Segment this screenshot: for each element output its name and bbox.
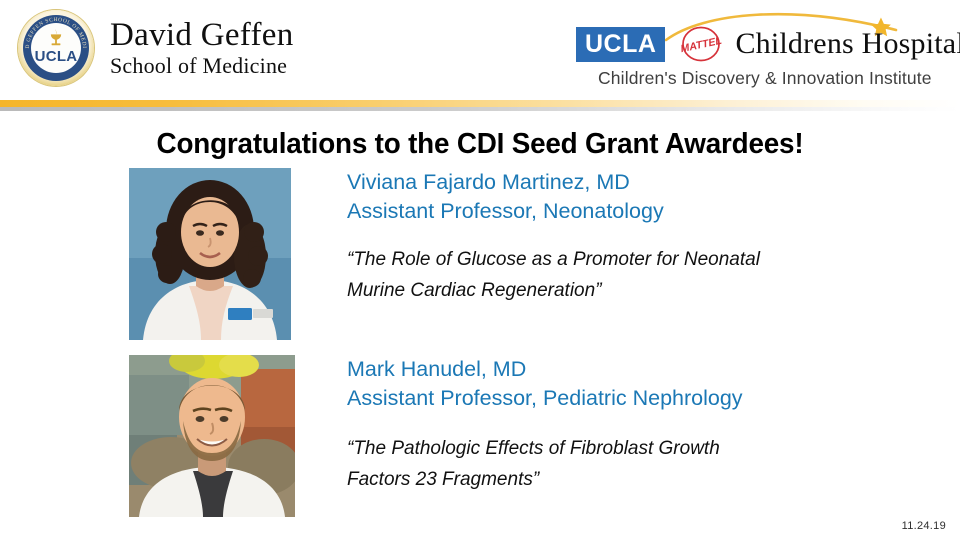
awardee-name: Viviana Fajardo Martinez, MD (347, 168, 947, 197)
avatar (129, 168, 291, 340)
date-stamp: 11.24.19 (902, 520, 946, 532)
headshot-photo-mark (129, 355, 295, 517)
cdi-institute-label: Children's Discovery & Innovation Instit… (598, 68, 932, 89)
ucla-mattel-childrens-hospital-logo: UCLA MATTEL Childrens Hospital Children'… (576, 10, 956, 92)
ucla-box-logo: UCLA (576, 27, 665, 62)
awardee-details: Viviana Fajardo Martinez, MD Assistant P… (347, 168, 947, 306)
seal-ucla-wordmark: UCLA (16, 48, 96, 65)
geffen-school-line: School of Medicine (110, 53, 294, 79)
childrens-hospital-wordmark: Childrens Hospital (735, 28, 960, 60)
avatar (129, 355, 295, 517)
awardee-details: Mark Hanudel, MD Assistant Professor, Pe… (347, 355, 947, 495)
project-title-line: “The Pathologic Effects of Fibroblast Gr… (347, 433, 947, 464)
project-title-line: Factors 23 Fragments” (347, 464, 947, 495)
awardee-role: Assistant Professor, Pediatric Nephrolog… (347, 384, 947, 413)
gold-divider-bar (0, 100, 960, 107)
awardee-role: Assistant Professor, Neonatology (347, 197, 947, 226)
page-title: Congratulations to the CDI Seed Grant Aw… (19, 128, 941, 161)
slide-header: DAVID GEFFEN SCHOOL OF MEDICINE UCLA Dav… (0, 0, 960, 100)
headshot-photo-viviana (129, 168, 291, 340)
geffen-school-of-medicine-logo: DAVID GEFFEN SCHOOL OF MEDICINE UCLA Dav… (16, 8, 294, 88)
geffen-name-line: David Geffen (110, 17, 294, 53)
hospital-name-row: UCLA MATTEL Childrens Hospital (576, 24, 960, 64)
awardee-name: Mark Hanudel, MD (347, 355, 947, 384)
gold-divider-shadow (0, 107, 960, 111)
project-title-line: “The Role of Glucose as a Promoter for N… (347, 244, 947, 275)
awardee-project-title: “The Role of Glucose as a Promoter for N… (347, 244, 947, 306)
ucla-geffen-seal-icon: DAVID GEFFEN SCHOOL OF MEDICINE UCLA (16, 8, 96, 88)
lamp-of-knowledge-icon (45, 27, 67, 49)
awardee-project-title: “The Pathologic Effects of Fibroblast Gr… (347, 433, 947, 495)
mattel-stamp-icon: MATTEL (675, 24, 727, 64)
geffen-wordmark: David Geffen School of Medicine (110, 17, 294, 79)
project-title-line: Murine Cardiac Regeneration” (347, 275, 947, 306)
